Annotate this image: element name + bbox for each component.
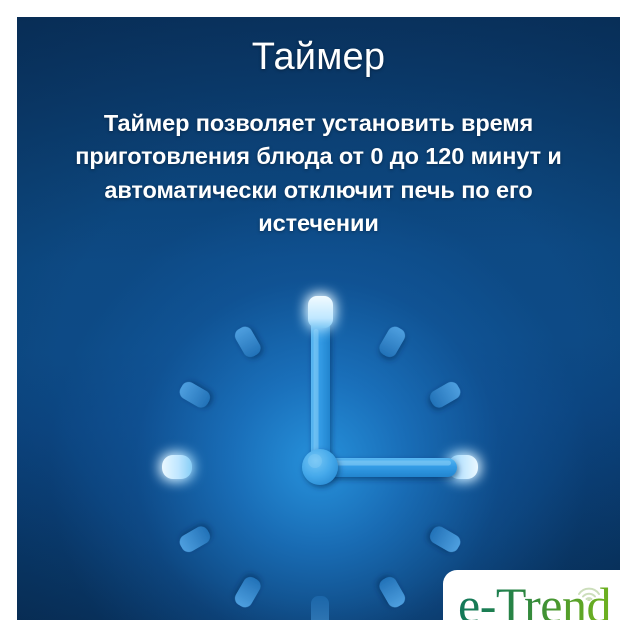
- minute-hand: [308, 296, 333, 469]
- logo-inner: e-Trend: [458, 576, 620, 620]
- brand-logo[interactable]: e-Trend: [443, 570, 620, 620]
- clock-marker-2: [427, 379, 463, 410]
- text-block: Таймер Таймер позволяет установить время…: [17, 37, 620, 240]
- clock-marker-9: [162, 455, 192, 479]
- clock-marker-1: [377, 324, 408, 360]
- slide-body-text: Таймер позволяет установить время пригот…: [69, 107, 569, 240]
- page-title: Таймер: [17, 37, 620, 79]
- clock-marker-7: [232, 574, 263, 610]
- hour-hand: [320, 458, 457, 477]
- clock-marker-10: [177, 379, 213, 410]
- clock-marker-8: [177, 524, 213, 555]
- wifi-signal-icon: [576, 583, 602, 601]
- clock-marker-5: [377, 574, 408, 610]
- slide-canvas: Таймер Таймер позволяет установить время…: [0, 0, 640, 640]
- clock-marker-4: [427, 524, 463, 555]
- clock-marker-11: [232, 324, 263, 360]
- clock-center-hub: [302, 449, 338, 485]
- clock-marker-6: [311, 596, 329, 620]
- presentation-slide: Таймер Таймер позволяет установить время…: [17, 17, 620, 620]
